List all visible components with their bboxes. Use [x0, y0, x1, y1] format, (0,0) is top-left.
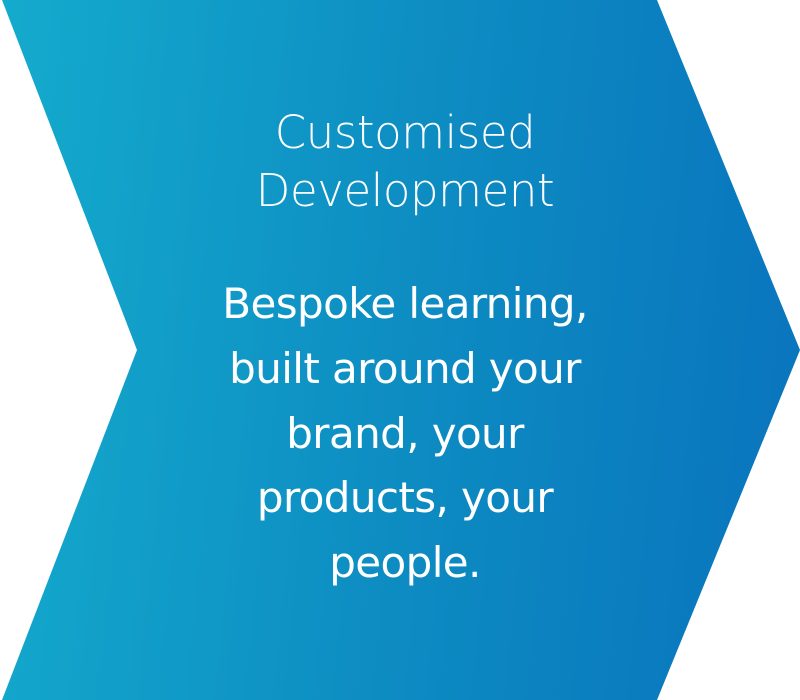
banner-body-text: Bespoke learning, built around your bran…	[195, 272, 615, 595]
banner-text-stack: Customised Development Bespoke learning,…	[150, 0, 660, 700]
banner-headline: Customised Development	[195, 104, 615, 220]
banner-canvas: Customised Development Bespoke learning,…	[0, 0, 800, 700]
